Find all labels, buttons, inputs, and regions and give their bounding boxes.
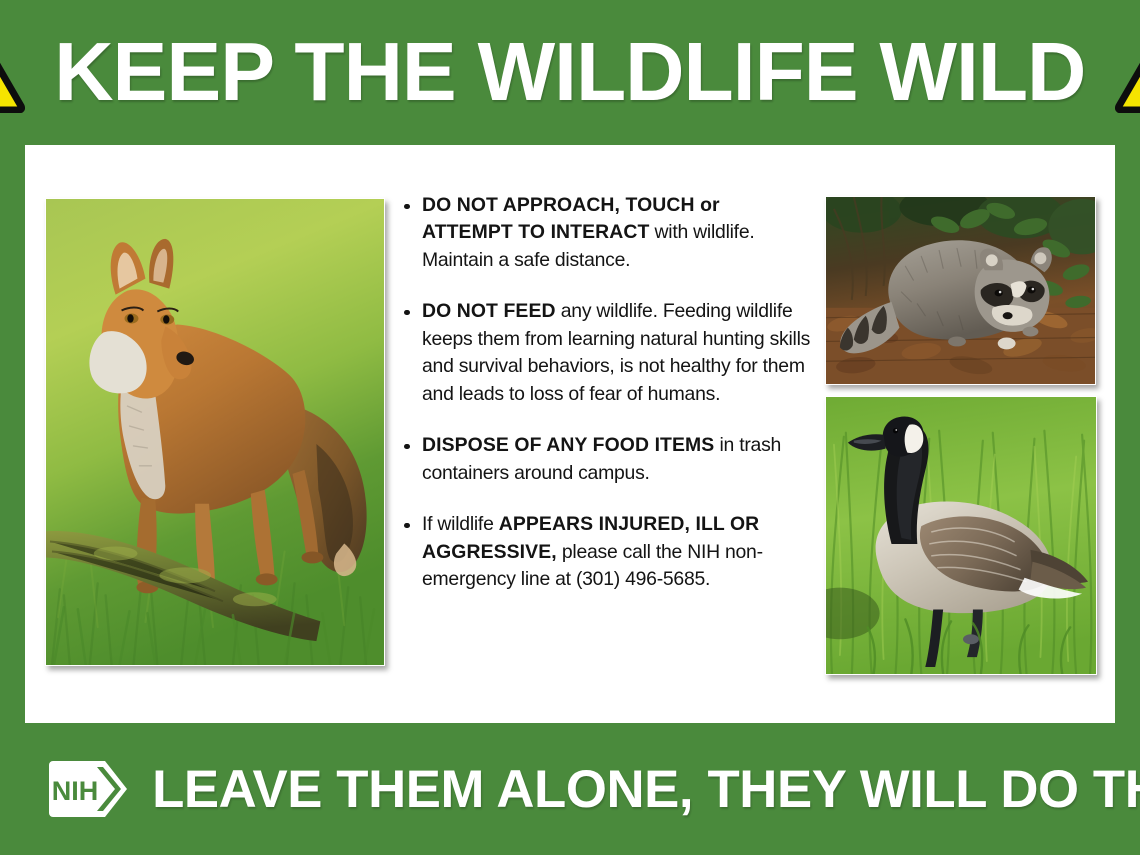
guideline-dispose-of-food: DISPOSE OF ANY FOOD ITEMS in trash conta… <box>422 432 811 487</box>
bullet-dot-icon <box>404 444 410 450</box>
list-item: DISPOSE OF ANY FOOD ITEMS in trash conta… <box>403 432 811 487</box>
goose-photo <box>825 396 1097 675</box>
emphasis-text: DO NOT FEED <box>422 300 556 322</box>
list-item: DO NOT FEED any wildlife. Feeding wildli… <box>403 298 811 408</box>
bullet-dot-icon <box>404 523 410 529</box>
nih-logo-icon: NIH <box>47 759 135 819</box>
list-item: If wildlife APPEARS INJURED, ILL OR AGGR… <box>403 511 811 593</box>
warning-triangle-icon <box>1115 33 1140 113</box>
footer-slogan: LEAVE THEM ALONE, THEY WILL DO THE SAME! <box>152 763 1140 816</box>
guideline-report-injured-wildlife: If wildlife APPEARS INJURED, ILL OR AGGR… <box>422 511 811 593</box>
fox-photo <box>45 198 385 666</box>
guideline-do-not-approach: DO NOT APPROACH, TOUCH or ATTEMPT TO INT… <box>422 192 811 274</box>
guideline-do-not-feed: DO NOT FEED any wildlife. Feeding wildli… <box>422 298 811 408</box>
page-title: KEEP THE WILDLIFE WILD <box>54 34 1085 110</box>
poster-header: KEEP THE WILDLIFE WILD <box>0 0 1140 145</box>
emphasis-text: DISPOSE OF ANY FOOD ITEMS <box>422 434 714 456</box>
list-item: DO NOT APPROACH, TOUCH or ATTEMPT TO INT… <box>403 192 811 274</box>
body-text: If wildlife <box>422 513 499 535</box>
nih-logo-text: NIH <box>52 776 99 806</box>
warning-triangle-icon <box>0 33 25 113</box>
bullet-dot-icon <box>404 204 410 210</box>
guidelines-list: DO NOT APPROACH, TOUCH or ATTEMPT TO INT… <box>403 192 811 593</box>
poster-footer: NIH LEAVE THEM ALONE, THEY WILL DO THE S… <box>0 723 1140 855</box>
raccoon-photo <box>825 196 1096 385</box>
bullet-dot-icon <box>404 310 410 316</box>
content-card: DO NOT APPROACH, TOUCH or ATTEMPT TO INT… <box>25 145 1115 723</box>
